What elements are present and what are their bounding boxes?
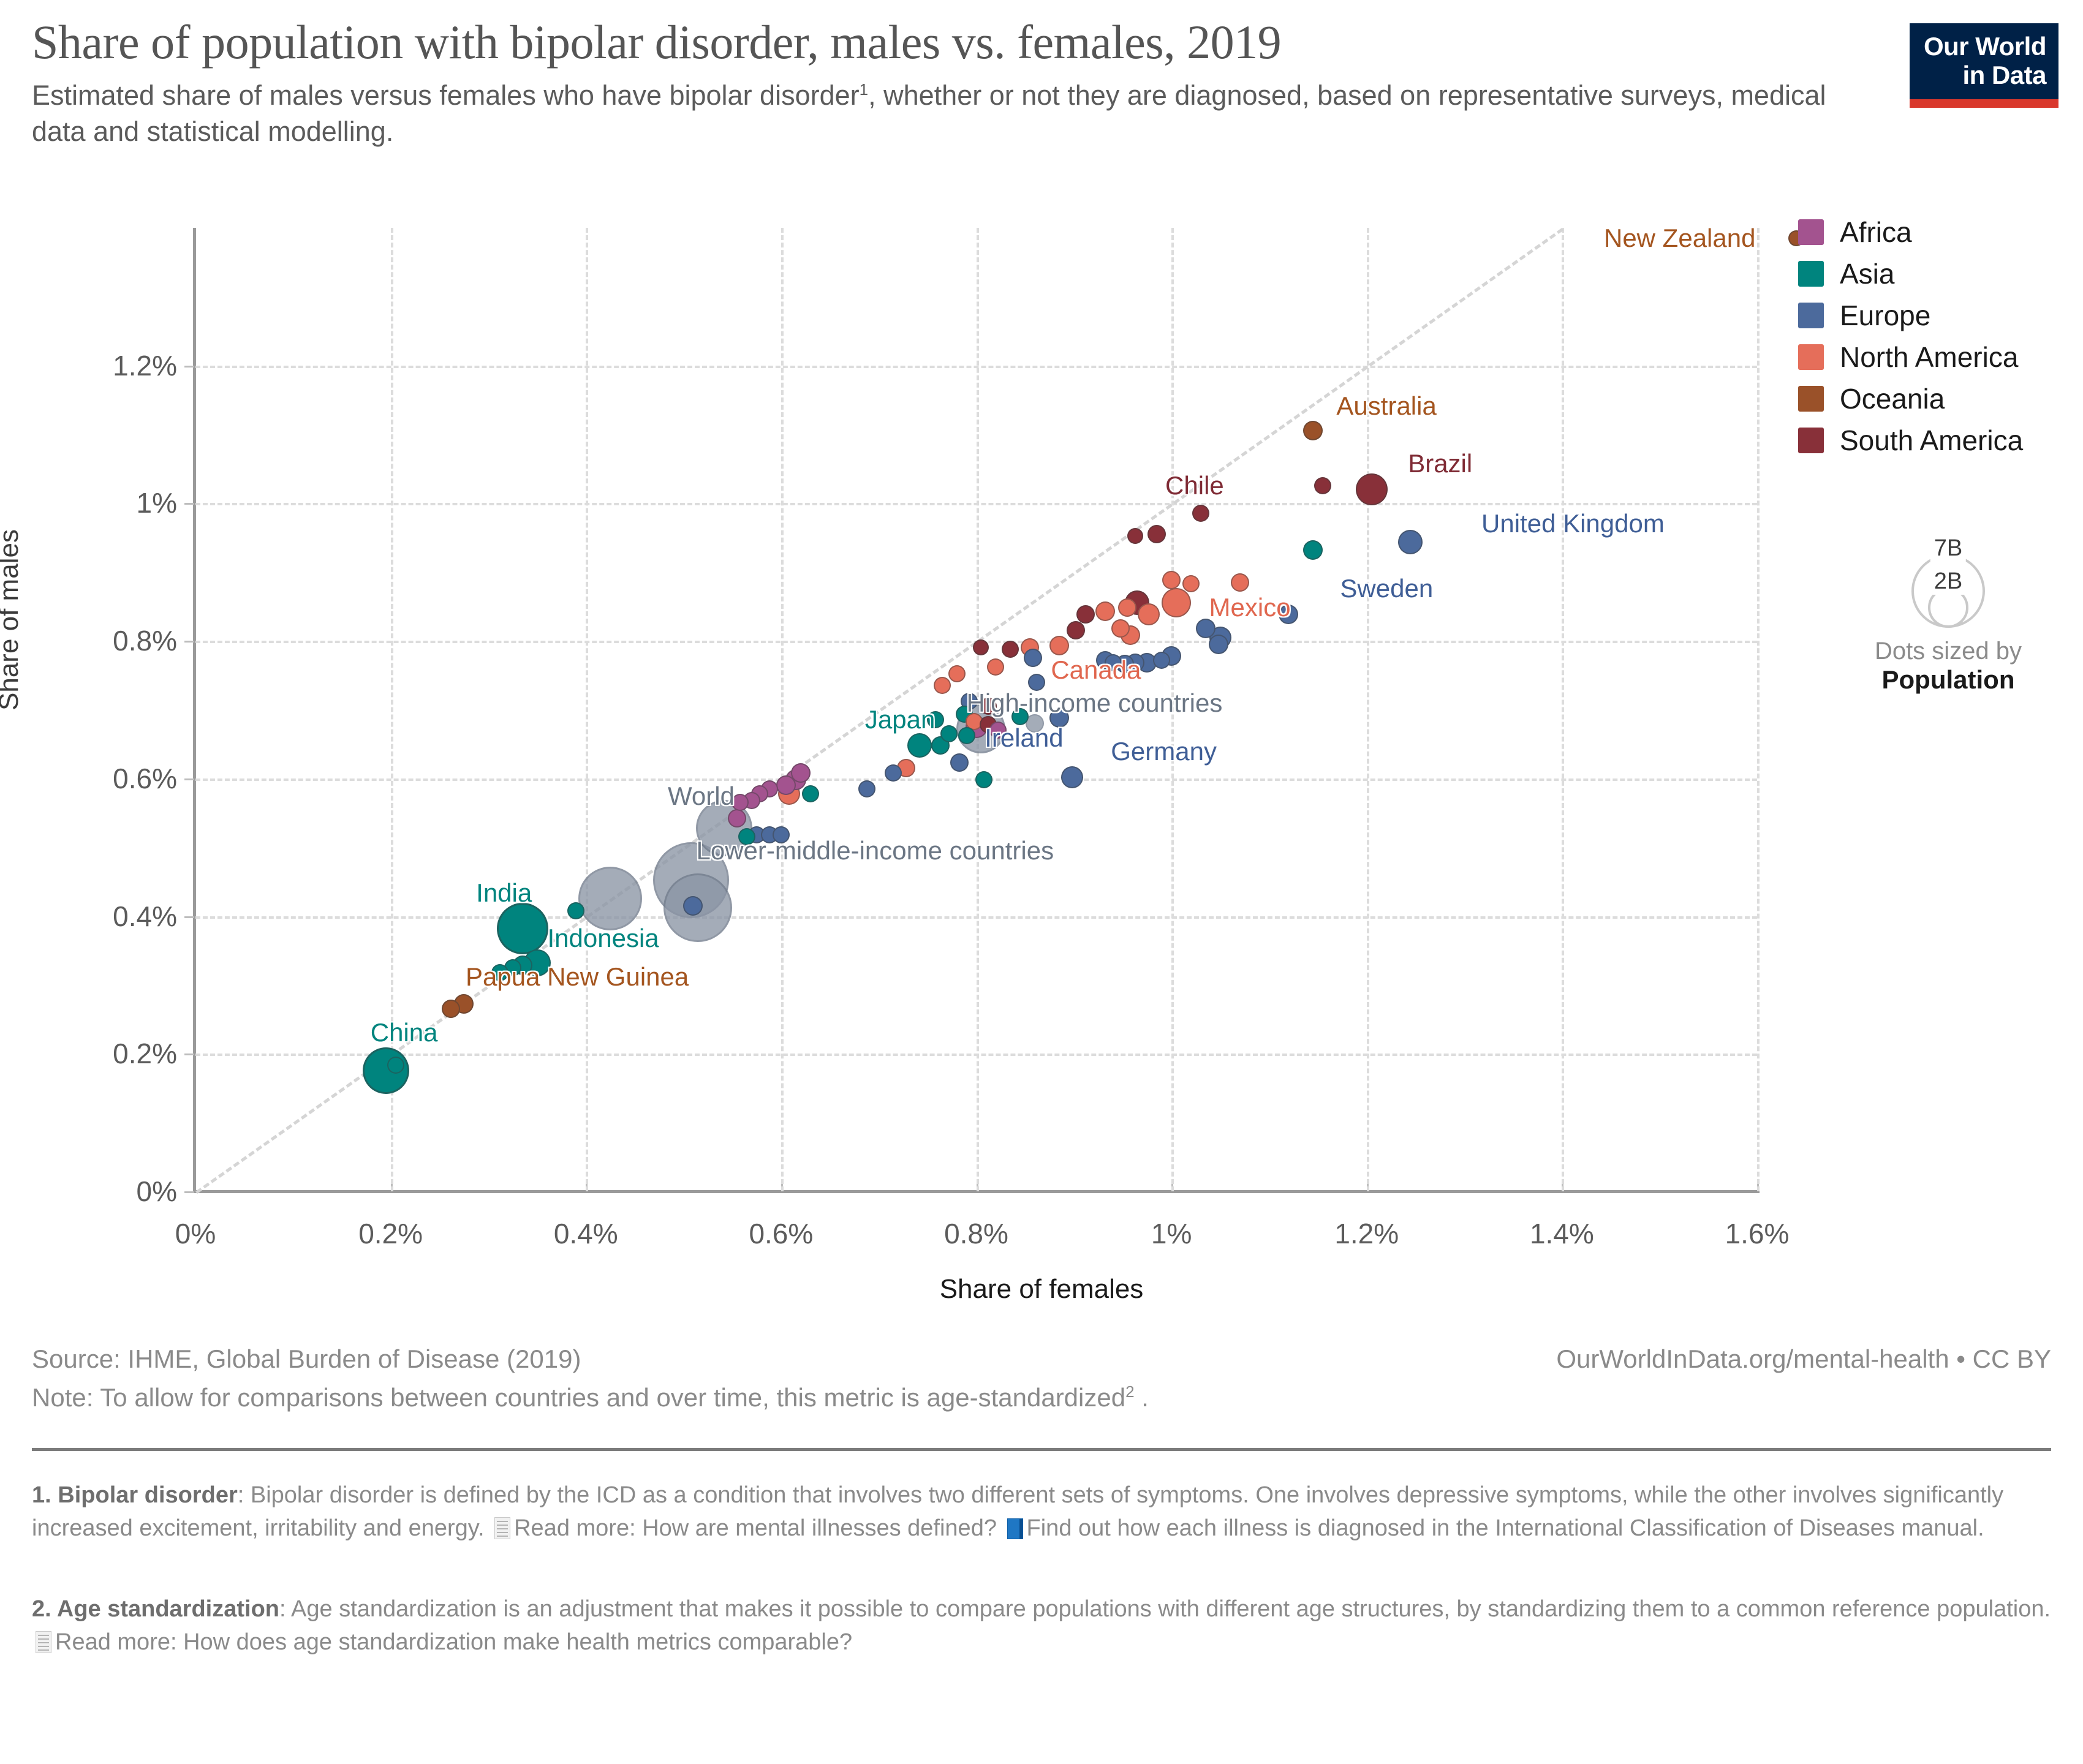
legend-item-africa[interactable]: Africa [1798, 217, 2080, 247]
x-axis-title: Share of females [0, 1274, 2083, 1305]
legend-swatch [1798, 219, 1824, 245]
x-tick-label: 0.2% [311, 1217, 471, 1250]
y-tick-mark [184, 1191, 194, 1193]
scatter-plot-area[interactable]: New ZealandAustraliaBrazilChileUnited Ki… [195, 228, 1757, 1191]
gridline-horizontal [195, 366, 1757, 368]
legend-label: Europe [1840, 299, 1930, 332]
data-point[interactable] [1182, 575, 1200, 592]
data-point[interactable] [958, 727, 975, 744]
point-label-brazil: Brazil [1408, 449, 1472, 478]
data-point[interactable] [980, 698, 997, 715]
data-point-germany[interactable] [1061, 766, 1083, 788]
data-point-sweden[interactable] [1279, 605, 1298, 624]
x-tick-label: 0.6% [701, 1217, 861, 1250]
x-tick-label: 0.8% [897, 1217, 1056, 1250]
data-point-united-kingdom[interactable] [1398, 530, 1423, 554]
footnote-1-term: Bipolar disorder [58, 1482, 238, 1508]
data-point-chile[interactable] [1192, 505, 1209, 522]
subtitle-footnote-ref-1[interactable]: 1 [860, 80, 868, 99]
data-point[interactable] [1153, 652, 1170, 669]
legend-label: Asia [1840, 257, 1894, 290]
subtitle-text-a: Estimated share of males versus females … [32, 80, 860, 111]
footnote-2-body: : Age standardization is an adjustment t… [279, 1596, 2051, 1622]
gridline-vertical [391, 228, 393, 1191]
article-icon [494, 1517, 510, 1539]
footnote-2-number: 2. [32, 1596, 51, 1622]
data-point[interactable] [1314, 477, 1331, 494]
y-tick-label: 1% [18, 486, 177, 519]
source-text: Source: IHME, Global Burden of Disease (… [32, 1344, 581, 1374]
data-point[interactable] [1209, 635, 1228, 654]
data-point[interactable] [683, 896, 703, 916]
legend-swatch [1798, 386, 1824, 412]
footer-note: Note: To allow for comparisons between c… [32, 1382, 2051, 1412]
legend-swatch [1798, 261, 1824, 287]
y-tick-mark [184, 778, 194, 780]
legend-item-north-america[interactable]: North America [1798, 342, 2080, 372]
y-tick-mark [184, 916, 194, 918]
data-point-japan[interactable] [907, 733, 932, 758]
data-point-ireland[interactable] [950, 753, 969, 772]
data-point-india[interactable] [497, 903, 548, 954]
data-point[interactable] [776, 775, 796, 795]
parity-reference-line [195, 228, 1563, 1194]
data-point[interactable] [1067, 621, 1085, 639]
gridline-vertical [1367, 228, 1369, 1191]
article-icon [36, 1631, 51, 1653]
book-icon [1007, 1518, 1023, 1539]
chart-header: Share of population with bipolar disorde… [32, 17, 2054, 150]
legend-swatch [1798, 428, 1824, 453]
data-point[interactable] [1105, 654, 1122, 671]
point-label-new-zealand: New Zealand [1604, 224, 1755, 253]
gridline-vertical [1757, 228, 1760, 1191]
data-point[interactable] [1002, 641, 1019, 658]
gridline-vertical [1171, 228, 1174, 1191]
y-tick-label: 0.4% [18, 900, 177, 933]
footer-note-text-b: . [1135, 1383, 1149, 1412]
legend-item-europe[interactable]: Europe [1798, 301, 2080, 330]
data-point[interactable] [442, 1000, 460, 1018]
chart-subtitle: Estimated share of males versus females … [32, 77, 1827, 150]
data-point-canada[interactable] [1049, 636, 1069, 655]
point-label-high-income-countries: High-income countries [967, 688, 1223, 718]
x-tick-label: 0.4% [506, 1217, 665, 1250]
footer-footnote-ref-2[interactable]: 2 [1125, 1382, 1134, 1401]
continent-legend[interactable]: AfricaAsiaEuropeNorth AmericaOceaniaSout… [1798, 217, 2080, 467]
chart-page: Share of population with bipolar disorde… [0, 0, 2083, 1764]
data-point[interactable] [732, 794, 749, 811]
gridline-vertical [781, 228, 784, 1191]
y-axis-title: Share of males [0, 529, 25, 710]
y-tick-label: 0.8% [18, 624, 177, 657]
footnote-1: 1. Bipolar disorder: Bipolar disorder is… [32, 1479, 2051, 1545]
page-title: Share of population with bipolar disorde… [32, 17, 2054, 67]
logo-red-bar [1910, 99, 2058, 108]
data-point-brazil[interactable] [1356, 473, 1388, 505]
point-label-sweden: Sweden [1340, 574, 1433, 603]
size-legend-metric[interactable]: Population [1826, 665, 2071, 695]
data-point[interactable] [491, 964, 508, 981]
data-point[interactable] [1024, 649, 1042, 667]
data-point[interactable] [773, 826, 790, 843]
data-point[interactable] [989, 722, 1007, 739]
footnote-1-number: 1. [32, 1482, 51, 1508]
data-point[interactable] [1231, 573, 1249, 592]
data-point[interactable] [1138, 603, 1160, 625]
legend-item-oceania[interactable]: Oceania [1798, 384, 2080, 413]
data-point[interactable] [975, 771, 992, 788]
data-point[interactable] [1162, 571, 1181, 589]
data-point[interactable] [387, 1057, 404, 1074]
chart-footer: Source: IHME, Global Burden of Disease (… [32, 1344, 2051, 1659]
data-point[interactable] [1028, 674, 1045, 691]
point-label-australia: Australia [1336, 391, 1436, 421]
footer-source-row: Source: IHME, Global Burden of Disease (… [32, 1344, 2051, 1374]
gridline-horizontal [195, 916, 1757, 919]
footer-divider [32, 1448, 2051, 1451]
size-legend-inner-label: 2B [1930, 568, 1966, 595]
data-point[interactable] [1147, 525, 1166, 543]
data-point[interactable] [940, 725, 958, 742]
size-legend-caption: Dots sized by [1826, 638, 2071, 665]
logo-box: Our World in Data [1910, 23, 2058, 99]
data-point[interactable] [1111, 619, 1130, 638]
y-tick-label: 0.2% [18, 1037, 177, 1070]
size-legend: 7B 2B Dots sized by Population [1826, 530, 2071, 695]
gridline-vertical [1562, 228, 1564, 1191]
data-point[interactable] [1196, 619, 1215, 638]
footnote-2: 2. Age standardization: Age standardizat… [32, 1593, 2051, 1659]
legend-swatch [1798, 303, 1824, 328]
footnote-2-link-a[interactable]: Read more: How does age standardization … [55, 1629, 852, 1655]
footer-note-text-a: Note: To allow for comparisons between c… [32, 1383, 1125, 1412]
y-tick-mark [184, 641, 194, 643]
data-point[interactable] [738, 828, 755, 845]
data-point[interactable] [1303, 540, 1323, 560]
x-tick-label: 1.6% [1677, 1217, 1837, 1250]
data-point[interactable] [885, 764, 902, 782]
y-tick-label: 1.2% [18, 349, 177, 382]
logo-line-1: Our World [1922, 32, 2046, 61]
gridline-vertical [586, 228, 588, 1191]
data-point[interactable] [1095, 601, 1115, 621]
legend-item-asia[interactable]: Asia [1798, 259, 2080, 288]
footnote-1-link-b[interactable]: Find out how each illness is diagnosed i… [1027, 1515, 1984, 1541]
data-point[interactable] [948, 665, 966, 682]
data-point[interactable] [927, 711, 944, 728]
point-label-mexico: Mexico [1209, 593, 1291, 622]
size-legend-outer-label: 7B [1930, 535, 1966, 562]
x-tick-label: 1.4% [1482, 1217, 1641, 1250]
point-label-japan: Japan [865, 705, 935, 734]
legend-label: Africa [1840, 216, 1912, 249]
logo-line-2: in Data [1922, 61, 2046, 89]
y-tick-mark [184, 366, 194, 367]
data-point[interactable] [1076, 605, 1095, 624]
legend-label: Oceania [1840, 382, 1945, 415]
legend-swatch [1798, 344, 1824, 370]
data-point[interactable] [934, 677, 951, 694]
y-tick-mark [184, 503, 194, 505]
owid-logo[interactable]: Our World in Data [1910, 23, 2058, 108]
data-point[interactable] [728, 809, 746, 827]
data-point[interactable] [1049, 708, 1069, 728]
point-label-united-kingdom: United Kingdom [1481, 509, 1665, 538]
data-point[interactable] [802, 785, 819, 802]
footnote-2-term: Age standardization [57, 1596, 279, 1622]
data-point[interactable] [973, 639, 989, 655]
y-tick-label: 0.6% [18, 762, 177, 795]
data-point-mexico[interactable] [1162, 588, 1191, 617]
size-legend-bubbles: 7B 2B [1826, 530, 2071, 628]
gridline-horizontal [195, 1053, 1757, 1056]
attribution-text[interactable]: OurWorldInData.org/mental-health • CC BY [1556, 1344, 2051, 1374]
data-point[interactable] [1011, 708, 1029, 725]
data-point[interactable] [1118, 598, 1136, 617]
x-tick-label: 1% [1092, 1217, 1251, 1250]
x-tick-label: 1.2% [1287, 1217, 1446, 1250]
data-point[interactable] [858, 780, 875, 797]
legend-label: North America [1840, 341, 2018, 374]
data-point[interactable] [987, 658, 1004, 676]
gridline-horizontal [195, 503, 1757, 505]
x-tick-label: 0% [116, 1217, 275, 1250]
data-point-australia[interactable] [1303, 421, 1323, 440]
y-tick-mark [184, 1053, 194, 1055]
legend-label: South America [1840, 424, 2023, 457]
data-point[interactable] [1127, 528, 1143, 544]
data-point[interactable] [578, 867, 642, 930]
data-point[interactable] [567, 902, 584, 919]
y-tick-label: 0% [18, 1175, 177, 1208]
point-label-germany: Germany [1111, 737, 1217, 766]
legend-item-south-america[interactable]: South America [1798, 426, 2080, 455]
footnote-1-link-a[interactable]: Read more: How are mental illnesses defi… [514, 1515, 997, 1541]
